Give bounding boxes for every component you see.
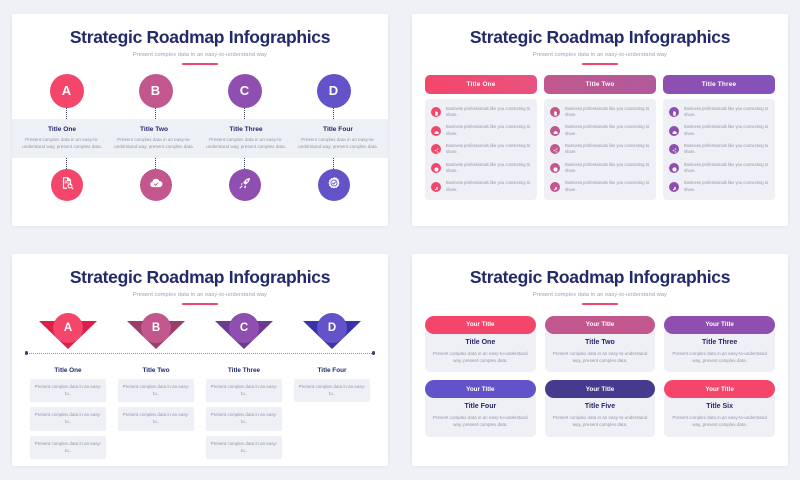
column-header-pill[interactable]: Title Three	[663, 75, 775, 94]
item-icon-badge	[669, 182, 679, 192]
stage-letter-badge: C	[228, 74, 262, 108]
list-item[interactable]: Business professionals like you connecti…	[669, 124, 769, 137]
list-item[interactable]: Business professionals like you connecti…	[669, 180, 769, 193]
panel-4-card-grid: Your TitleTitle OnePresent complex data …	[412, 305, 788, 437]
list-item[interactable]: Business professionals like you connecti…	[431, 180, 531, 193]
page-title: Strategic Roadmap Infographics	[12, 28, 388, 47]
panel-1-stage-1[interactable]: A	[22, 74, 111, 119]
stage-box[interactable]: Present complex data in an easy-to..	[30, 407, 106, 431]
panel-1-icon-row	[12, 158, 388, 201]
item-text: Business professionals like you connecti…	[446, 162, 531, 175]
list-item[interactable]: Business professionals like you connecti…	[431, 143, 531, 156]
connector-dotted-line	[66, 108, 67, 119]
slide-1-header: Strategic Roadmap Infographics Present c…	[12, 14, 388, 65]
list-item[interactable]: Business professionals like you connecti…	[431, 162, 531, 175]
item-text: Business professionals like you connecti…	[446, 180, 531, 193]
item-text: Business professionals like you connecti…	[684, 143, 769, 156]
panel-3-arrow-row: ABCD	[12, 305, 388, 353]
item-icon-badge	[550, 144, 560, 154]
card-description: Present complex data in an easy-to-under…	[432, 350, 529, 364]
column-item-list: Business professionals like you connecti…	[544, 99, 656, 200]
panel-3-column-1: Title OnePresent complex data in an easy…	[24, 362, 112, 460]
item-icon-badge	[550, 163, 560, 173]
panel-1-text-cell: Title OnePresent complex data in an easy…	[16, 126, 108, 150]
stage-box[interactable]: Present complex data in an easy-to..	[206, 379, 282, 403]
document-icon	[672, 103, 677, 121]
item-text: Business professionals like you connecti…	[565, 180, 650, 193]
item-icon-badge	[431, 107, 441, 117]
connector-dotted-line	[155, 158, 156, 169]
down-arrow-marker: D	[303, 313, 361, 353]
panel-4-card-3[interactable]: Your TitleTitle ThreePresent complex dat…	[664, 316, 775, 372]
card-pill-label[interactable]: Your Title	[664, 380, 775, 398]
item-text: Business professionals like you connecti…	[446, 124, 531, 137]
panel-2-column-1: Title OneBusiness professionals like you…	[425, 75, 537, 200]
panel-1-icon-cell-2[interactable]	[111, 158, 200, 201]
card-description: Present complex data in an easy-to-under…	[671, 350, 768, 364]
item-icon-badge	[431, 144, 441, 154]
stage-letter-badge: B	[139, 74, 173, 108]
card-pill-label[interactable]: Your Title	[664, 316, 775, 334]
item-icon-badge	[550, 182, 560, 192]
item-text: Business professionals like you connecti…	[565, 124, 650, 137]
connector-dotted-line	[244, 158, 245, 169]
card-description: Present complex data in an easy-to-under…	[552, 350, 649, 364]
cloud-icon	[672, 122, 677, 140]
stage-icon-badge	[51, 169, 83, 201]
card-pill-label[interactable]: Your Title	[545, 316, 656, 334]
stage-box[interactable]: Present complex data in an easy-to..	[30, 436, 106, 460]
stage-description: Present complex data in an easy-to-under…	[114, 136, 194, 150]
page-subtitle: Present complex data in an easy-to-under…	[12, 52, 388, 58]
card-title: Title Four	[432, 403, 529, 410]
item-text: Business professionals like you connecti…	[684, 106, 769, 119]
page-title: Strategic Roadmap Infographics	[12, 268, 388, 287]
panel-4-card-5[interactable]: Your TitleTitle FivePresent complex data…	[545, 380, 656, 436]
stage-icon-badge	[140, 169, 172, 201]
stage-icon-badge	[318, 169, 350, 201]
music-note-icon	[553, 178, 558, 196]
item-text: Business professionals like you connecti…	[446, 106, 531, 119]
column-header-pill[interactable]: Title One	[425, 75, 537, 94]
stage-letter-badge: D	[317, 313, 347, 343]
card-title: Title Two	[552, 339, 649, 346]
panel-2-column-2: Title TwoBusiness professionals like you…	[544, 75, 656, 200]
card-body: Title ThreePresent complex data in an ea…	[664, 328, 775, 372]
document-icon	[434, 103, 439, 121]
panel-2-column-3: Title ThreeBusiness professionals like y…	[663, 75, 775, 200]
item-icon-badge	[431, 182, 441, 192]
cloud-icon	[553, 122, 558, 140]
stage-title: Title Three	[206, 126, 286, 133]
item-icon-badge	[550, 126, 560, 136]
list-item[interactable]: Business professionals like you connecti…	[669, 143, 769, 156]
panel-2-columns: Title OneBusiness professionals like you…	[412, 65, 788, 200]
card-title: Title Five	[552, 403, 649, 410]
list-item[interactable]: Business professionals like you connecti…	[550, 124, 650, 137]
slide-4-header: Strategic Roadmap Infographics Present c…	[412, 254, 788, 305]
stage-box[interactable]: Present complex data in an easy-to..	[206, 407, 282, 431]
panel-4-card-1[interactable]: Your TitleTitle OnePresent complex data …	[425, 316, 536, 372]
down-arrow-marker: C	[215, 313, 273, 353]
card-body: Title FourPresent complex data in an eas…	[425, 392, 536, 436]
item-icon-badge	[550, 107, 560, 117]
list-item[interactable]: Business professionals like you connecti…	[550, 162, 650, 175]
slide-panel-2: Strategic Roadmap Infographics Present c…	[412, 14, 788, 226]
stage-letter-badge: A	[53, 313, 83, 343]
page-subtitle: Present complex data in an easy-to-under…	[412, 292, 788, 298]
panel-3-timeline-axis	[26, 353, 374, 354]
column-item-list: Business professionals like you connecti…	[425, 99, 537, 200]
panel-1-stage-4[interactable]: D	[289, 74, 378, 119]
share-icon	[434, 140, 439, 158]
item-icon-badge	[669, 126, 679, 136]
gear-badge-icon	[327, 176, 341, 195]
stage-title: Title Four	[318, 367, 347, 374]
stage-box-list: Present complex data in an easy-to..	[288, 374, 376, 403]
panel-4-card-2[interactable]: Your TitleTitle TwoPresent complex data …	[545, 316, 656, 372]
item-icon-badge	[431, 126, 441, 136]
card-body: Title SixPresent complex data in an easy…	[664, 392, 775, 436]
panel-3-arrow-3[interactable]: C	[200, 313, 288, 353]
card-pill-label[interactable]: Your Title	[425, 380, 536, 398]
card-title: Title Three	[671, 339, 768, 346]
list-item[interactable]: Business professionals like you connecti…	[669, 162, 769, 175]
document-search-icon	[60, 176, 74, 195]
title-accent-rule	[182, 63, 218, 65]
panel-4-card-6[interactable]: Your TitleTitle SixPresent complex data …	[664, 380, 775, 436]
item-icon-badge	[669, 163, 679, 173]
panel-3-arrow-4[interactable]: D	[288, 313, 376, 353]
panel-1-stage-3[interactable]: C	[200, 74, 289, 119]
page-title: Strategic Roadmap Infographics	[412, 268, 788, 287]
panel-1-body: ABCD Title OnePresent complex data in an…	[12, 74, 388, 201]
share-icon	[553, 140, 558, 158]
panel-1-text-cell: Title ThreePresent complex data in an ea…	[200, 126, 292, 150]
page-title: Strategic Roadmap Infographics	[412, 28, 788, 47]
item-text: Business professionals like you connecti…	[565, 162, 650, 175]
stage-letter-badge: C	[229, 313, 259, 343]
card-description: Present complex data in an easy-to-under…	[552, 414, 649, 428]
stage-letter-badge: A	[50, 74, 84, 108]
list-item[interactable]: Business professionals like you connecti…	[431, 124, 531, 137]
stage-box[interactable]: Present complex data in an easy-to..	[118, 407, 194, 431]
item-text: Business professionals like you connecti…	[565, 143, 650, 156]
slide-panel-4: Strategic Roadmap Infographics Present c…	[412, 254, 788, 466]
panel-3-content-row: Title OnePresent complex data in an easy…	[12, 354, 388, 460]
item-text: Business professionals like you connecti…	[684, 124, 769, 137]
stage-letter-badge: B	[141, 313, 171, 343]
item-text: Business professionals like you connecti…	[446, 143, 531, 156]
stage-box[interactable]: Present complex data in an easy-to..	[206, 436, 282, 460]
panel-3-column-4: Title FourPresent complex data in an eas…	[288, 362, 376, 460]
stage-title: Title Three	[228, 367, 260, 374]
stage-box[interactable]: Present complex data in an easy-to..	[294, 379, 370, 403]
globe-icon	[434, 159, 439, 177]
stage-title: Title One	[22, 126, 102, 133]
stage-title: Title Two	[142, 367, 169, 374]
item-icon-badge	[669, 107, 679, 117]
stage-box[interactable]: Present complex data in an easy-to..	[30, 379, 106, 403]
card-body: Title FivePresent complex data in an eas…	[545, 392, 656, 436]
list-item[interactable]: Business professionals like you connecti…	[431, 106, 531, 119]
cloud-icon	[434, 122, 439, 140]
card-description: Present complex data in an easy-to-under…	[671, 414, 768, 428]
connector-dotted-line	[333, 158, 334, 169]
panel-1-icon-cell-4[interactable]	[289, 158, 378, 201]
connector-dotted-line	[66, 158, 67, 169]
panel-1-text-cell: Title FourPresent complex data in an eas…	[292, 126, 384, 150]
down-arrow-marker: B	[127, 313, 185, 353]
slide-grid: Strategic Roadmap Infographics Present c…	[0, 0, 800, 480]
card-body: Title OnePresent complex data in an easy…	[425, 328, 536, 372]
list-item[interactable]: Business professionals like you connecti…	[550, 106, 650, 119]
page-subtitle: Present complex data in an easy-to-under…	[412, 52, 788, 58]
stage-title: Title One	[54, 367, 81, 374]
panel-1-text-cell: Title TwoPresent complex data in an easy…	[108, 126, 200, 150]
stage-letter-badge: D	[317, 74, 351, 108]
connector-dotted-line	[244, 108, 245, 119]
panel-1-icon-cell-3[interactable]	[200, 158, 289, 201]
rocket-share-icon	[238, 176, 252, 195]
card-pill-label[interactable]: Your Title	[545, 380, 656, 398]
panel-3-arrow-1[interactable]: A	[24, 313, 112, 353]
card-body: Title TwoPresent complex data in an easy…	[545, 328, 656, 372]
slide-3-header: Strategic Roadmap Infographics Present c…	[12, 254, 388, 305]
document-icon	[553, 103, 558, 121]
stage-box-list: Present complex data in an easy-to..Pres…	[24, 374, 112, 460]
card-title: Title Six	[671, 403, 768, 410]
stage-box-list: Present complex data in an easy-to..Pres…	[200, 374, 288, 460]
stage-box[interactable]: Present complex data in an easy-to..	[118, 379, 194, 403]
column-item-list: Business professionals like you connecti…	[663, 99, 775, 200]
music-note-icon	[434, 178, 439, 196]
panel-1-icon-cell-1[interactable]	[22, 158, 111, 201]
list-item[interactable]: Business professionals like you connecti…	[550, 180, 650, 193]
card-title: Title One	[432, 339, 529, 346]
slide-panel-1: Strategic Roadmap Infographics Present c…	[12, 14, 388, 226]
panel-3-column-3: Title ThreePresent complex data in an ea…	[200, 362, 288, 460]
stage-icon-badge	[229, 169, 261, 201]
card-description: Present complex data in an easy-to-under…	[432, 414, 529, 428]
stage-box-list: Present complex data in an easy-to..Pres…	[112, 374, 200, 431]
cloud-check-icon	[149, 176, 163, 195]
panel-1-stage-2[interactable]: B	[111, 74, 200, 119]
item-text: Business professionals like you connecti…	[565, 106, 650, 119]
down-arrow-marker: A	[39, 313, 97, 353]
share-icon	[672, 140, 677, 158]
globe-icon	[672, 159, 677, 177]
item-text: Business professionals like you connecti…	[684, 180, 769, 193]
panel-1-letter-row: ABCD	[12, 74, 388, 119]
list-item[interactable]: Business professionals like you connecti…	[550, 143, 650, 156]
slide-panel-3: Strategic Roadmap Infographics Present c…	[12, 254, 388, 466]
page-subtitle: Present complex data in an easy-to-under…	[12, 292, 388, 298]
stage-title: Title Four	[298, 126, 378, 133]
panel-4-card-4[interactable]: Your TitleTitle FourPresent complex data…	[425, 380, 536, 436]
music-note-icon	[672, 178, 677, 196]
panel-1-text-band: Title OnePresent complex data in an easy…	[12, 119, 388, 158]
connector-dotted-line	[155, 108, 156, 119]
item-icon-badge	[431, 163, 441, 173]
item-text: Business professionals like you connecti…	[684, 162, 769, 175]
connector-dotted-line	[333, 108, 334, 119]
stage-title: Title Two	[114, 126, 194, 133]
stage-description: Present complex data in an easy-to-under…	[206, 136, 286, 150]
list-item[interactable]: Business professionals like you connecti…	[669, 106, 769, 119]
panel-3-column-2: Title TwoPresent complex data in an easy…	[112, 362, 200, 460]
stage-description: Present complex data in an easy-to-under…	[298, 136, 378, 150]
card-pill-label[interactable]: Your Title	[425, 316, 536, 334]
stage-description: Present complex data in an easy-to-under…	[22, 136, 102, 150]
column-header-pill[interactable]: Title Two	[544, 75, 656, 94]
item-icon-badge	[669, 144, 679, 154]
slide-2-header: Strategic Roadmap Infographics Present c…	[412, 14, 788, 65]
panel-3-arrow-2[interactable]: B	[112, 313, 200, 353]
globe-icon	[553, 159, 558, 177]
